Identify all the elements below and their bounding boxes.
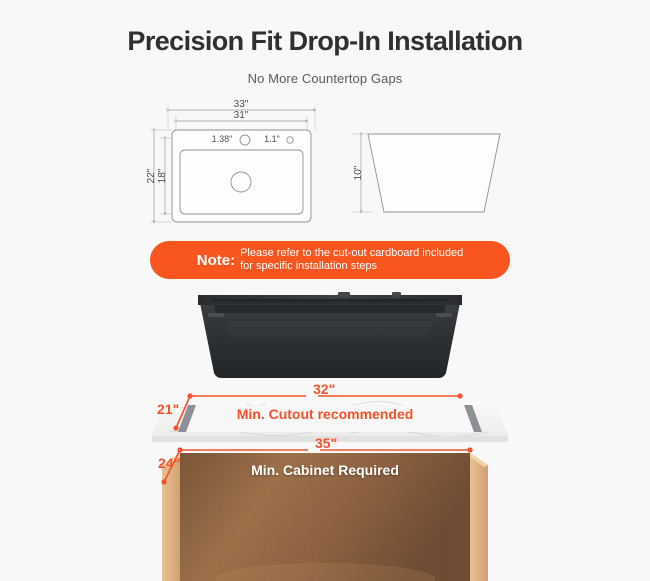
technical-drawing-svg: 33" 31" 22" 18" 1.38" 1.1": [0, 92, 650, 242]
faucet-hole-bump-small: [392, 292, 401, 297]
note-line-2: for specific installation steps: [240, 260, 377, 272]
sink-product-image: [196, 285, 464, 380]
note-banner: Note: Please refer to the cut-out cardbo…: [150, 241, 510, 279]
note-label: Note:: [197, 252, 235, 269]
cutout-caption: Min. Cutout recommended: [0, 406, 650, 422]
dim-depth: 10": [353, 165, 364, 180]
dim-height-outer: 22": [146, 168, 157, 183]
note-text: Please refer to the cut-out cardboard in…: [240, 247, 463, 274]
infographic-page: Precision Fit Drop-In Installation No Mo…: [0, 0, 650, 581]
sink-illustration: [196, 285, 464, 380]
sink-side-outline: [368, 134, 500, 212]
dim-hole-small: 1.1": [264, 134, 280, 144]
sink-highlight: [226, 321, 434, 337]
faucet-hole-bump-large: [338, 292, 350, 297]
technical-drawing-section: 33" 31" 22" 18" 1.38" 1.1": [0, 92, 650, 242]
note-line-1: Please refer to the cut-out cardboard in…: [240, 247, 463, 259]
dim-height-inner: 18": [157, 168, 168, 183]
page-title: Precision Fit Drop-In Installation: [0, 26, 650, 57]
sink-basin-outline: [180, 150, 303, 214]
dim-width-outer: 33": [234, 99, 249, 110]
measure-label-cutout-width: 32": [313, 381, 335, 397]
sink-back-ledge: [214, 305, 446, 313]
dim-width-inner: 31": [234, 110, 249, 121]
mounting-clip-left: [208, 313, 224, 317]
measure-label-cabinet-width: 35": [315, 435, 337, 451]
sink-basin-body: [200, 303, 460, 378]
mounting-clip-right: [436, 313, 452, 317]
cabinet-caption: Min. Cabinet Required: [0, 462, 650, 478]
dim-hole-large: 1.38": [212, 134, 233, 144]
page-subtitle: No More Countertop Gaps: [0, 71, 650, 86]
